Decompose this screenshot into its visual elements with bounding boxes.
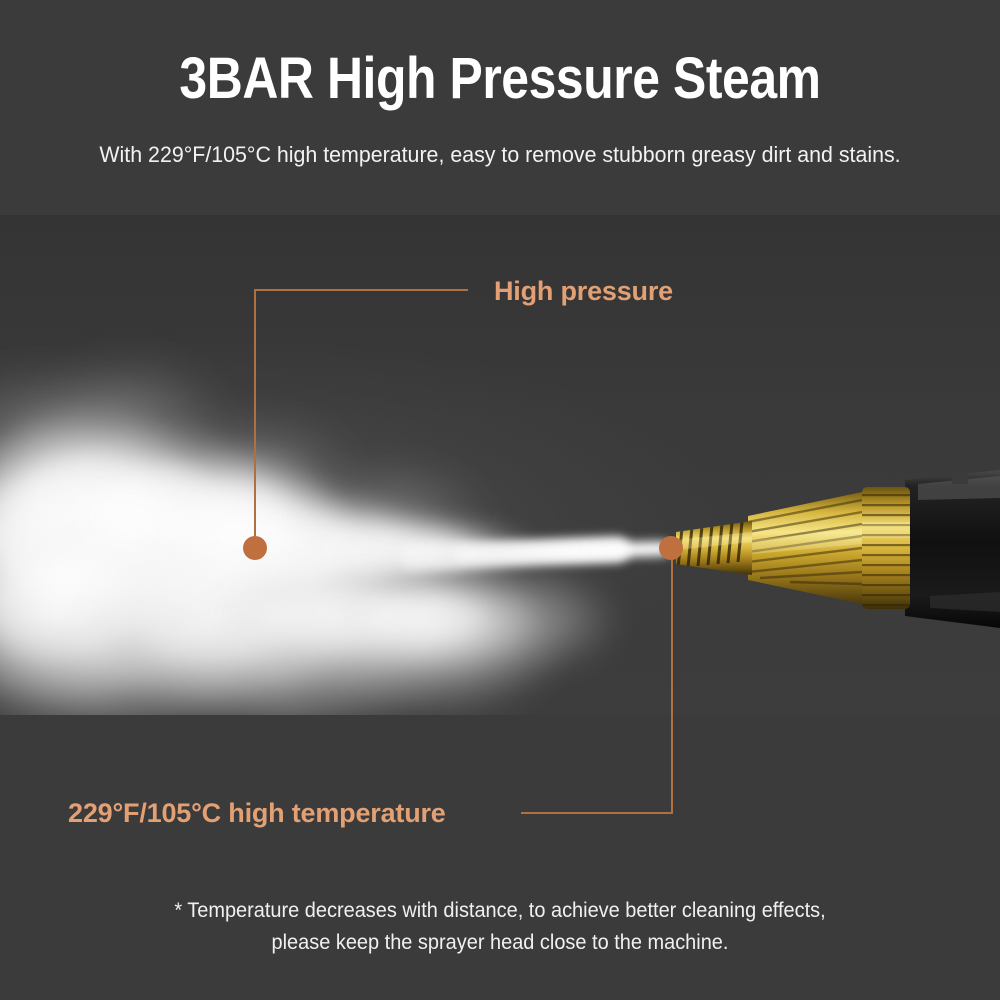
footnote-line-1: * Temperature decreases with distance, t… <box>25 895 975 927</box>
callout-dot-high-pressure <box>243 536 267 560</box>
product-feature-image: 3BAR High Pressure Steam With 229°F/105°… <box>0 0 1000 1000</box>
footnote-line-2: please keep the sprayer head close to th… <box>25 927 975 959</box>
callout-label-high-temperature: 229°F/105°C high temperature <box>68 797 446 829</box>
callout-label-high-pressure: High pressure <box>494 275 673 307</box>
footnote: * Temperature decreases with distance, t… <box>25 895 975 959</box>
callout-line-high-pressure-vertical <box>254 290 256 550</box>
callout-line-high-temperature-vertical <box>671 548 673 814</box>
callout-line-high-pressure-horizontal <box>254 289 468 291</box>
page-title: 3BAR High Pressure Steam <box>70 47 930 111</box>
callout-dot-high-temperature <box>659 536 683 560</box>
page-subtitle: With 229°F/105°C high temperature, easy … <box>25 140 975 170</box>
callout-line-high-temperature-horizontal <box>521 812 673 814</box>
